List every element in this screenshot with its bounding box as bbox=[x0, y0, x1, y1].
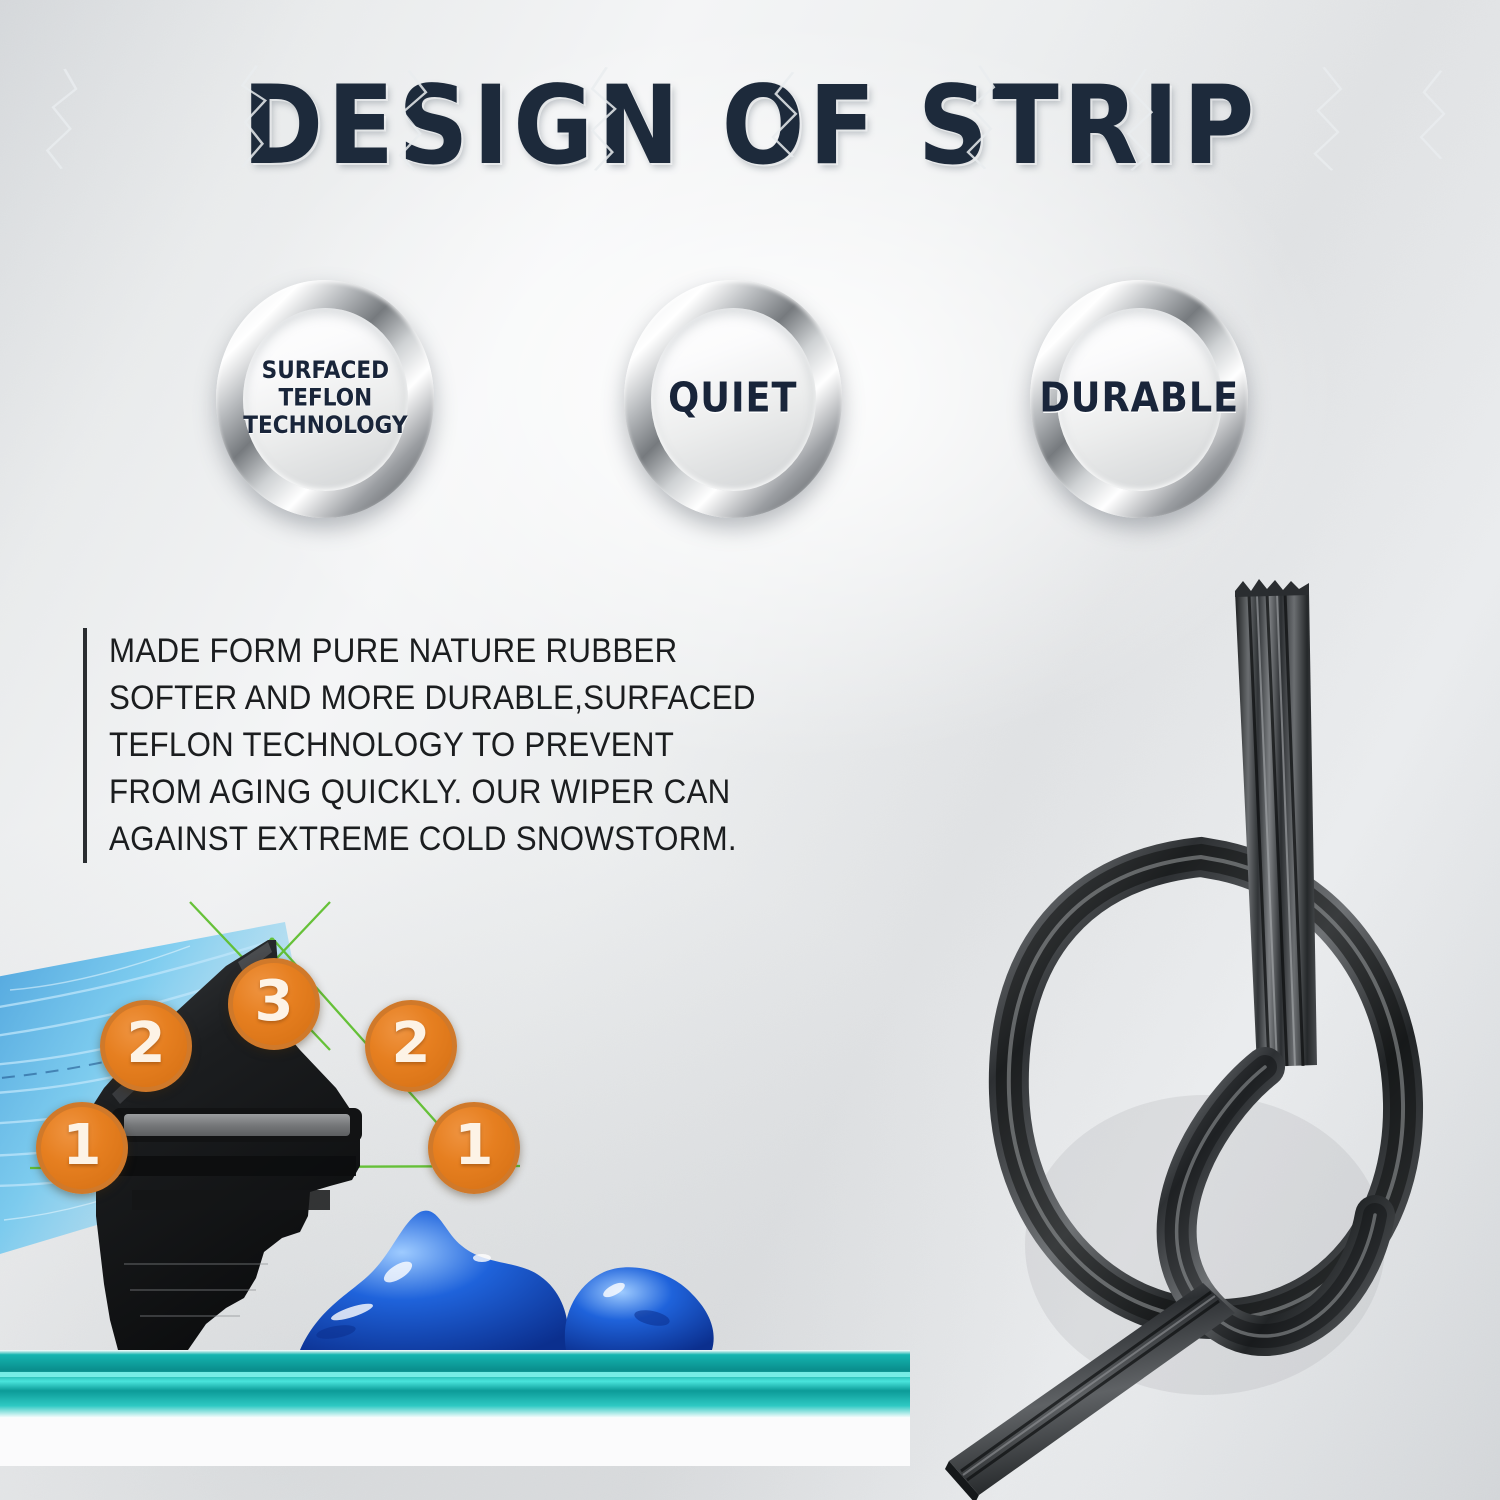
feature-badge-quiet[interactable]: QUIET bbox=[624, 280, 842, 518]
feature-badge-durable[interactable]: DURABLE bbox=[1030, 280, 1248, 518]
description-line: FROM AGING QUICKLY. OUR WIPER CAN bbox=[109, 769, 784, 816]
description-line: MADE FORM PURE NATURE RUBBER bbox=[109, 628, 784, 675]
badge-label: QUIET bbox=[668, 376, 797, 422]
strip-vertical-segment bbox=[1235, 579, 1317, 1067]
page-title: DESIGN OF STRIP bbox=[242, 72, 1258, 181]
callout-number: 1 bbox=[63, 1118, 102, 1174]
coiled-wiper-refill-strip-photo bbox=[905, 555, 1500, 1500]
description-line: TEFLON TECHNOLOGY TO PREVENT bbox=[109, 722, 784, 769]
callout-number: 3 bbox=[255, 974, 294, 1030]
feature-badge-surfaced-teflon-technology[interactable]: SURFACED TEFLON TECHNOLOGY bbox=[216, 280, 434, 518]
infographic-page: DESIGN OF STRIP SURFACED TEFLON TECHNOLO… bbox=[0, 0, 1500, 1500]
badge-face: SURFACED TEFLON TECHNOLOGY bbox=[243, 308, 408, 491]
description-line: SOFTER AND MORE DURABLE,SURFACED bbox=[109, 675, 784, 722]
wiper-cross-section-diagram: 1 2 3 2 1 bbox=[0, 880, 960, 1500]
badge-label: DURABLE bbox=[1039, 376, 1239, 422]
callout-badge-2-left[interactable]: 2 bbox=[100, 1000, 192, 1092]
glass-pane bbox=[0, 1350, 910, 1466]
badge-label: SURFACED TEFLON TECHNOLOGY bbox=[243, 358, 407, 440]
callout-number: 2 bbox=[127, 1016, 166, 1072]
callout-badge-1-left[interactable]: 1 bbox=[36, 1102, 128, 1194]
callout-number: 2 bbox=[392, 1016, 431, 1072]
description-line: AGAINST EXTREME COLD SNOWSTORM. bbox=[109, 816, 784, 863]
water-droplets bbox=[300, 1211, 714, 1350]
badge-face: DURABLE bbox=[1057, 308, 1222, 491]
callout-badge-3-top[interactable]: 3 bbox=[228, 958, 320, 1050]
badge-face: QUIET bbox=[651, 308, 816, 491]
callout-badge-1-right[interactable]: 1 bbox=[428, 1102, 520, 1194]
callout-badge-2-right[interactable]: 2 bbox=[365, 1000, 457, 1092]
description-block: MADE FORM PURE NATURE RUBBER SOFTER AND … bbox=[83, 628, 843, 863]
callout-number: 1 bbox=[455, 1118, 494, 1174]
page-title-container: DESIGN OF STRIP bbox=[0, 72, 1500, 164]
